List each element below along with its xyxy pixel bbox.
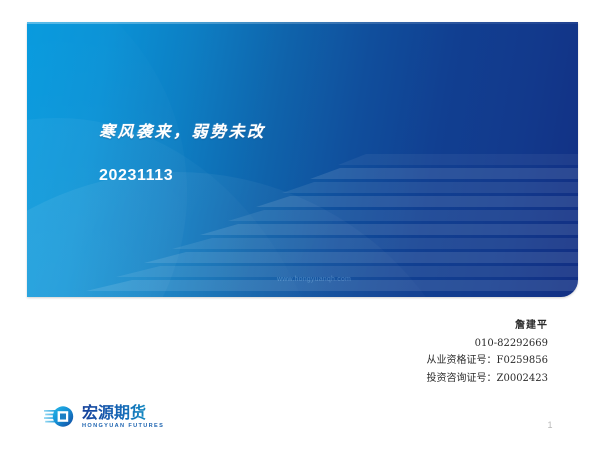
slide-canvas: www.hongyuanqh.com 寒风袭来，弱势未改 20231113 詹建… (0, 0, 600, 450)
stripe-band (172, 238, 578, 249)
logo-name-en: HONGYUAN FUTURES (82, 422, 164, 430)
company-logo: 宏源期货 HONGYUAN FUTURES (44, 400, 164, 434)
page-title: 寒风袭来，弱势未改 (99, 118, 266, 142)
banner-stripe-decoration (27, 22, 578, 297)
logo-name-cn: 宏源期货 (82, 404, 164, 421)
report-date: 20231113 (99, 167, 173, 185)
analyst-name: 詹建平 (427, 317, 548, 335)
site-watermark: www.hongyuanqh.com (277, 276, 351, 283)
stripe-band (256, 196, 578, 207)
analyst-phone: 010-82292669 (427, 335, 548, 353)
stripe-band (228, 210, 578, 221)
consulting-license-number: 投资咨询证号：Z0002423 (427, 370, 548, 388)
logo-text-group: 宏源期货 HONGYUAN FUTURES (82, 404, 164, 430)
practice-license-number: 从业资格证号：F0259856 (427, 352, 548, 370)
stripe-band (282, 182, 578, 193)
stripe-band (338, 154, 578, 165)
hero-banner: www.hongyuanqh.com 寒风袭来，弱势未改 20231113 (27, 22, 578, 297)
stripe-band (200, 224, 578, 235)
page-number: 1 (540, 420, 560, 430)
ring-logo-icon (44, 402, 78, 432)
stripe-band (310, 168, 578, 179)
analyst-contact-block: 詹建平 010-82292669 从业资格证号：F0259856 投资咨询证号：… (427, 317, 548, 387)
stripe-band (144, 252, 578, 263)
